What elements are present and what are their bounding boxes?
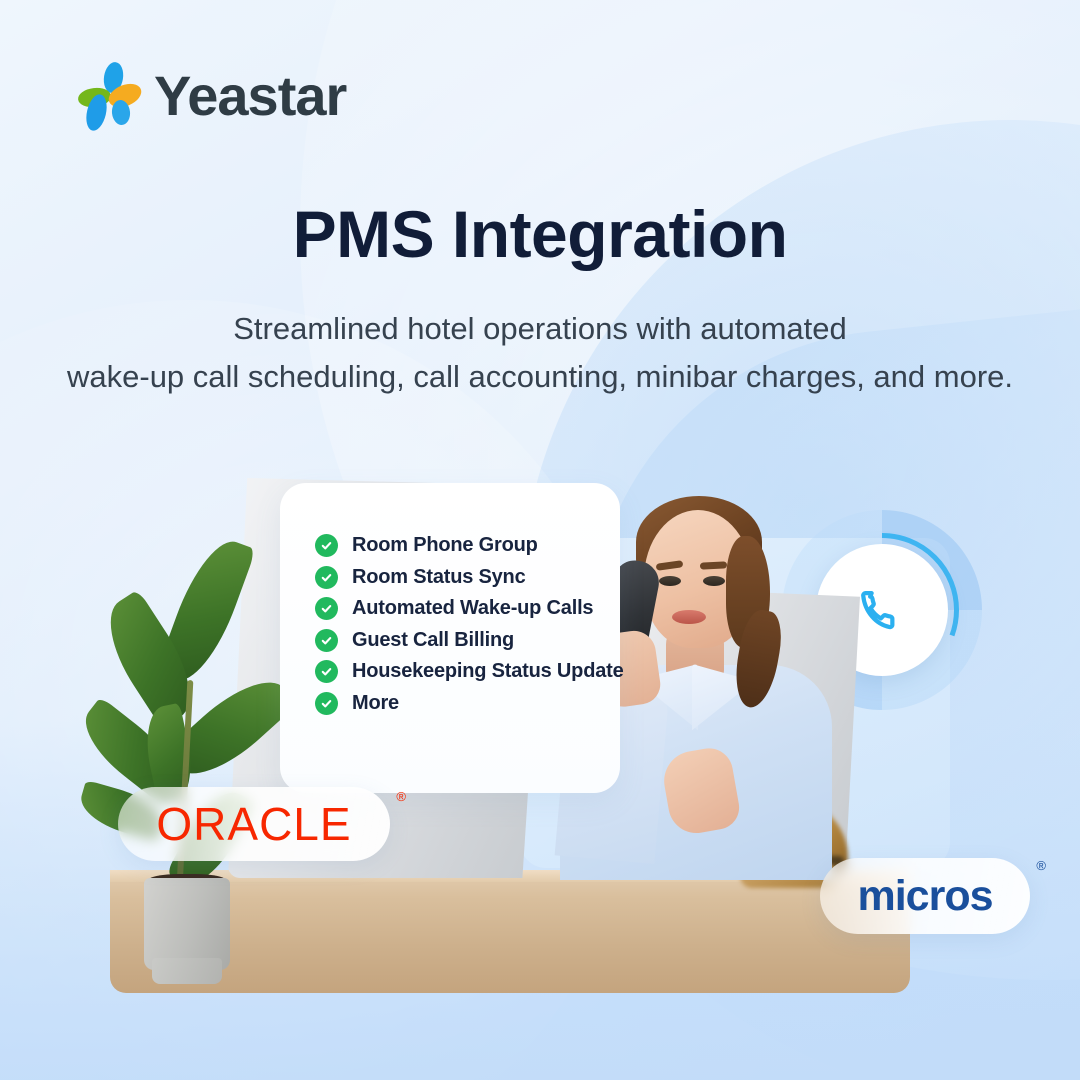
list-item-label: Automated Wake-up Calls bbox=[352, 597, 593, 620]
list-item-label: Room Phone Group bbox=[352, 534, 538, 557]
feature-list: Room Phone Group Room Status Sync Automa… bbox=[315, 530, 735, 719]
list-item[interactable]: More bbox=[315, 688, 735, 720]
phone-handset-icon bbox=[859, 587, 905, 633]
partner-badge-micros[interactable]: micros ® bbox=[820, 858, 1030, 934]
oracle-wordmark: ORACLE bbox=[156, 797, 351, 851]
subtitle-line-1: Streamlined hotel operations with automa… bbox=[0, 305, 1080, 353]
list-item[interactable]: Housekeeping Status Update bbox=[315, 656, 735, 688]
list-item-label: Guest Call Billing bbox=[352, 629, 514, 652]
check-circle-icon bbox=[315, 660, 338, 683]
brand-wordmark: Yeastar bbox=[154, 63, 346, 128]
check-circle-icon bbox=[315, 534, 338, 557]
oracle-registered-mark: ® bbox=[396, 789, 406, 804]
micros-wordmark: micros bbox=[857, 872, 992, 921]
yeastar-pinwheel-icon bbox=[78, 62, 140, 128]
potted-plant bbox=[96, 530, 296, 978]
brand-logo[interactable]: Yeastar bbox=[78, 62, 346, 128]
list-item[interactable]: Room Status Sync bbox=[315, 562, 735, 594]
check-circle-icon bbox=[315, 692, 338, 715]
check-circle-icon bbox=[315, 597, 338, 620]
check-circle-icon bbox=[315, 566, 338, 589]
page-title: PMS Integration bbox=[0, 196, 1080, 272]
hero-scene: Room Phone Group Room Status Sync Automa… bbox=[110, 470, 910, 993]
list-item[interactable]: Room Phone Group bbox=[315, 530, 735, 562]
list-item-label: More bbox=[352, 692, 399, 715]
list-item[interactable]: Automated Wake-up Calls bbox=[315, 593, 735, 625]
promo-banner: Yeastar PMS Integration Streamlined hote… bbox=[0, 0, 1080, 1080]
list-item-label: Room Status Sync bbox=[352, 566, 526, 589]
subtitle-line-2: wake-up call scheduling, call accounting… bbox=[0, 353, 1080, 401]
micros-registered-mark: ® bbox=[1036, 858, 1046, 873]
list-item[interactable]: Guest Call Billing bbox=[315, 625, 735, 657]
plant-pot bbox=[144, 878, 230, 970]
list-item-label: Housekeeping Status Update bbox=[352, 660, 624, 683]
page-subtitle: Streamlined hotel operations with automa… bbox=[0, 305, 1080, 401]
partner-badge-oracle[interactable]: ORACLE ® bbox=[118, 787, 390, 861]
check-circle-icon bbox=[315, 629, 338, 652]
